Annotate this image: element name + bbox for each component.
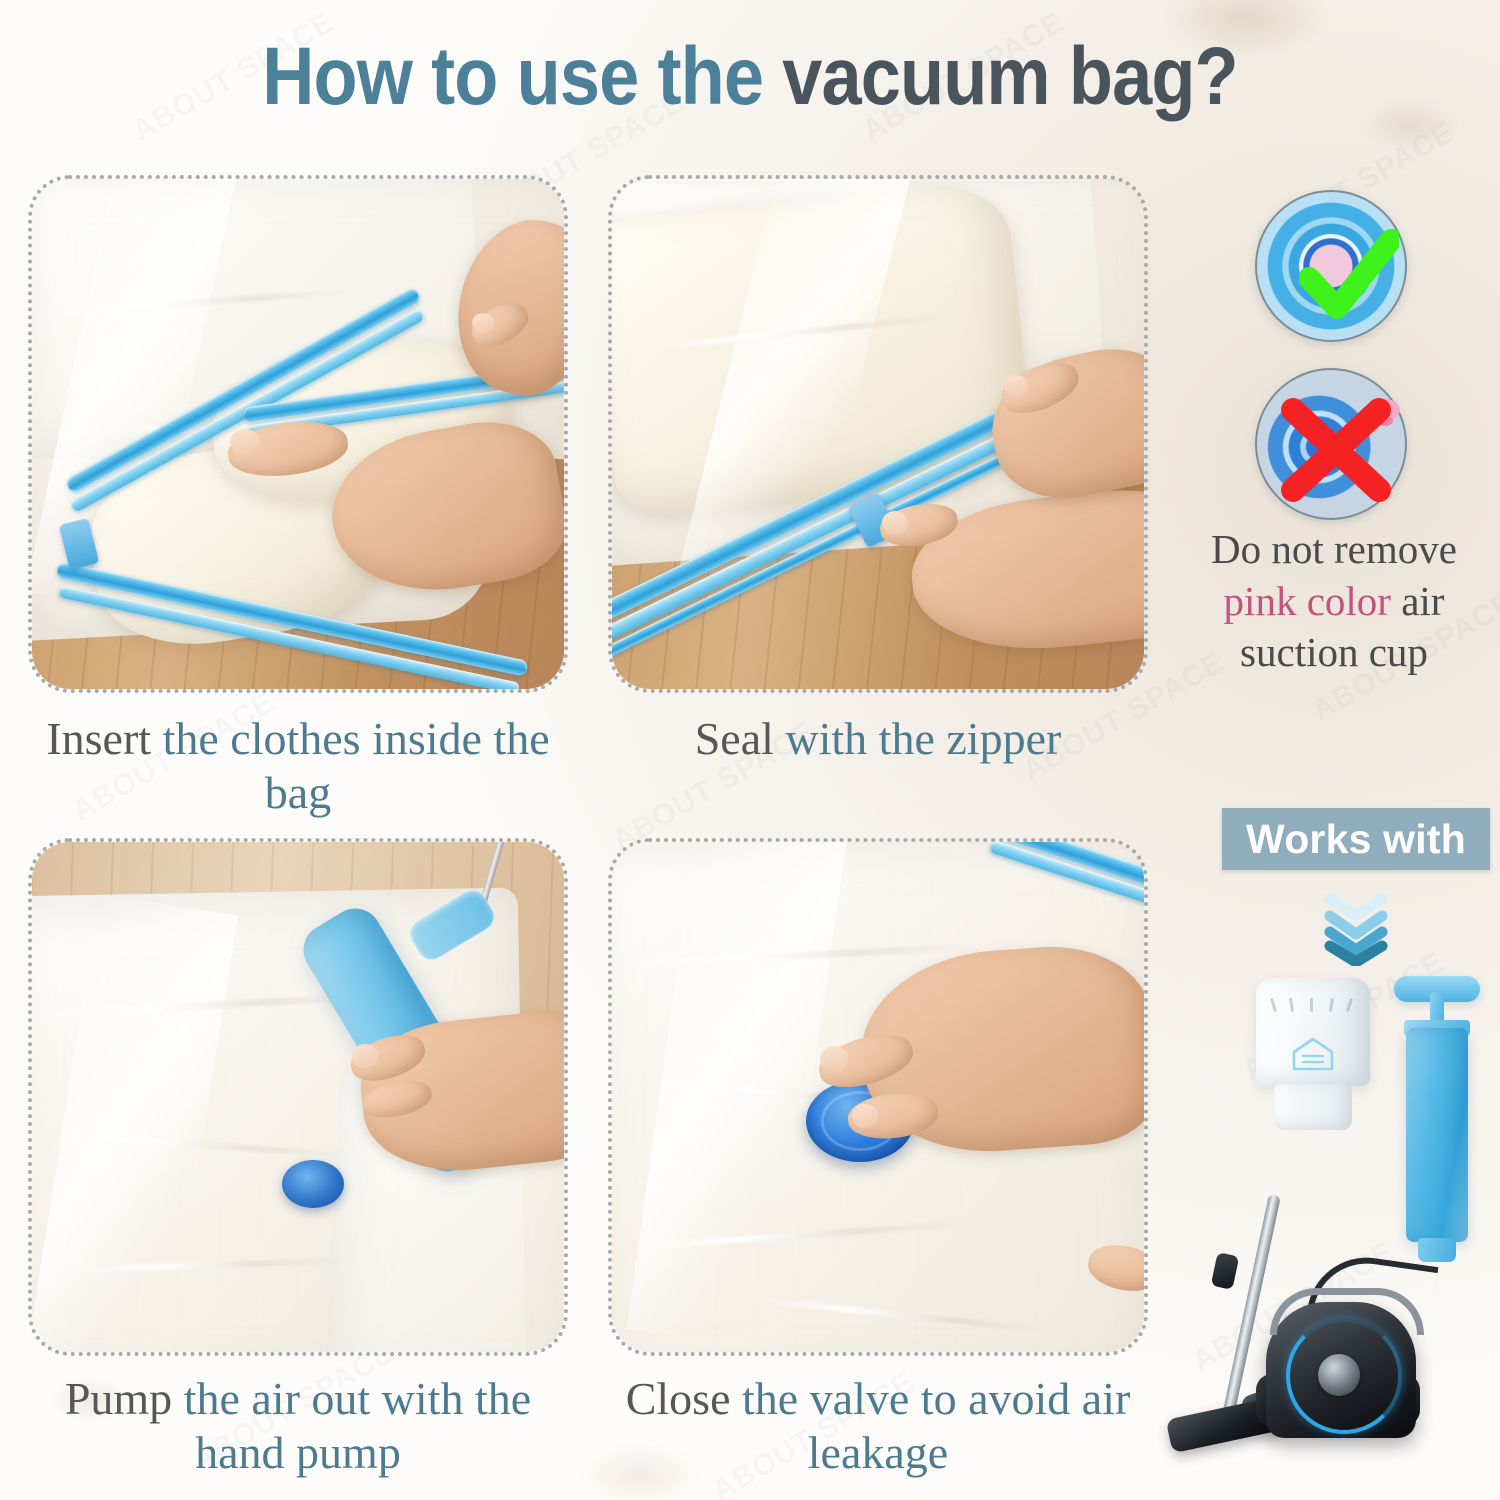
page-title-part2: vacuum bag? [782,31,1237,122]
vacuum-hose-port [1318,1354,1360,1396]
caption-lead: Insert [46,713,162,764]
page-title-part1: How to use the [262,31,782,122]
fingernail [852,1104,878,1128]
step-photo-4 [608,838,1148,1356]
valve-correct-illustration [1255,190,1407,342]
cross-icon [1277,394,1395,506]
adapter-vent [1270,998,1277,1012]
chevron-down-stack-icon [1316,886,1396,966]
notice-highlight: pink color [1224,578,1391,624]
pump-nozzle [282,1160,344,1208]
step-caption-4: Close the valve to avoid air leakage [600,1372,1156,1481]
vacuum-wand-grip [1211,1252,1240,1290]
step-photo-2 [608,175,1148,693]
check-icon [1299,226,1399,326]
caption-rest: with the zipper [785,713,1061,764]
step-caption-3: Pump the air out with the hand pump [20,1372,576,1481]
adapter-bottom [1274,1084,1352,1130]
suction-cup-notice: Do not remove pink color air suction cup [1176,524,1492,679]
caption-rest: the air out with the hand pump [184,1373,531,1478]
vacuum-adapter-product [1252,978,1374,1130]
valve-incorrect-illustration [1255,368,1407,520]
photo-insert-clothes [32,179,564,689]
fingernail [352,1044,378,1068]
step-caption-1: Insert the clothes inside the bag [20,712,576,821]
caption-rest: the valve to avoid air leakage [742,1373,1130,1478]
caption-rest: the clothes inside the bag [163,713,550,818]
adapter-vent [1329,998,1334,1012]
fingernail [820,1046,848,1072]
caption-lead: Pump [65,1373,184,1424]
works-with-label: Works with [1246,816,1466,863]
fingernail [882,511,908,535]
notice-line-3: suction cup [1240,629,1428,675]
photo-seal-zipper [612,179,1144,689]
page-title: How to use the vacuum bag? [90,30,1410,124]
caption-lead: Close [626,1373,742,1424]
fingernail [472,313,494,333]
step-caption-2: Seal with the zipper [600,712,1156,766]
notice-line-1: Do not remove [1211,526,1457,572]
adapter-vent [1289,998,1294,1012]
brand-house-logo-icon [1290,1036,1336,1072]
step-photo-3 [28,838,568,1356]
works-with-badge: Works with [1222,808,1490,870]
notice-line-2-rest: air [1391,578,1445,624]
caption-lead: Seal [695,713,786,764]
fingernail [230,429,260,455]
adapter-vent [1346,998,1353,1012]
photo-close-valve [612,842,1144,1352]
adapter-vent [1310,998,1313,1012]
vacuum-cleaner-product [1178,1196,1478,1496]
photo-hand-pump [32,842,564,1352]
step-photo-1 [28,175,568,693]
fingernail [1004,375,1028,397]
